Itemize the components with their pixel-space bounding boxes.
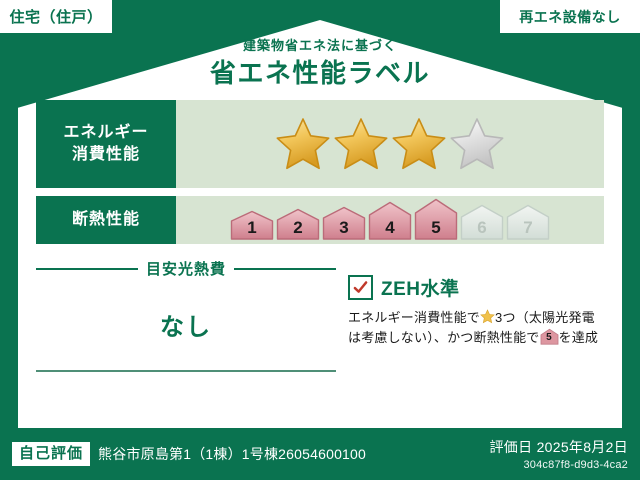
zeh-checkbox bbox=[348, 275, 373, 300]
star-icon-inline bbox=[480, 309, 495, 324]
utility-cost-block: 目安光熱費 なし bbox=[36, 258, 336, 372]
badge-renewable-energy: 再エネ設備なし bbox=[500, 0, 640, 33]
label-footer: 自己評価 熊谷市原島第1（1棟）1号棟26054600100 評価日 2025年… bbox=[0, 428, 640, 480]
evaluation-id: 304c87f8-d9d3-4ca2 bbox=[489, 459, 628, 471]
energy-performance-value bbox=[176, 100, 604, 188]
property-address: 熊谷市原島第1（1棟）1号棟26054600100 bbox=[98, 444, 366, 464]
insulation-level-number: 1 bbox=[230, 218, 274, 238]
energy-performance-label: 住宅（住戸） 再エネ設備なし 建築物省エネ法に基づく 省エネ性能ラベル エネルギ… bbox=[0, 0, 640, 480]
insulation-level-number: 6 bbox=[460, 218, 504, 238]
badge-building-type-label: 住宅（住戸） bbox=[9, 6, 102, 27]
insulation-performance-label-text: 断熱性能 bbox=[72, 209, 140, 231]
zeh-desc-part3: を達成 bbox=[559, 330, 599, 345]
zeh-desc-star-count: 3つ（太陽光発電 bbox=[495, 310, 595, 325]
footer-right: 評価日 2025年8月2日 304c87f8-d9d3-4ca2 bbox=[489, 437, 628, 471]
zeh-title: ZEH水準 bbox=[381, 274, 460, 301]
insulation-level-6: 6 bbox=[460, 204, 504, 240]
insulation-level-number: 3 bbox=[322, 218, 366, 238]
insulation-level-number: 7 bbox=[506, 218, 550, 238]
utility-cost-heading: 目安光熱費 bbox=[36, 258, 336, 279]
insulation-level-4: 4 bbox=[368, 201, 412, 240]
insulation-level-5: 5 bbox=[414, 198, 458, 240]
house-level-icon-number: 5 bbox=[540, 330, 559, 346]
evaluation-date: 評価日 2025年8月2日 bbox=[489, 437, 628, 457]
badge-renewable-energy-label: 再エネ設備なし bbox=[519, 7, 621, 27]
energy-performance-row: エネルギー 消費性能 bbox=[36, 100, 604, 188]
star-icon-empty bbox=[449, 116, 505, 172]
check-icon bbox=[353, 280, 368, 295]
zeh-title-line: ZEH水準 bbox=[348, 274, 604, 301]
insulation-level-number: 4 bbox=[368, 218, 412, 238]
insulation-level-7: 7 bbox=[506, 204, 550, 240]
insulation-level-2: 2 bbox=[276, 208, 320, 240]
insulation-performance-value: 1234567 bbox=[176, 196, 604, 244]
energy-performance-label-line1: エネルギー bbox=[63, 122, 148, 144]
house-level-icon-inline: 5 bbox=[540, 328, 559, 345]
zeh-block: ZEH水準 エネルギー消費性能で 3つ（太陽光発電 は考慮しない）、かつ断熱性能… bbox=[336, 258, 604, 372]
energy-performance-label: エネルギー 消費性能 bbox=[36, 100, 176, 188]
footer-left: 自己評価 熊谷市原島第1（1棟）1号棟26054600100 bbox=[12, 442, 366, 466]
insulation-level-3: 3 bbox=[322, 206, 366, 240]
star-icon-filled bbox=[333, 116, 389, 172]
star-icon-filled bbox=[275, 116, 331, 172]
energy-performance-label-line2: 消費性能 bbox=[72, 144, 140, 166]
utility-cost-heading-text: 目安光熱費 bbox=[146, 258, 226, 279]
insulation-level-number: 5 bbox=[414, 218, 458, 238]
utility-cost-rule-right bbox=[234, 268, 336, 270]
utility-cost-rule-left bbox=[36, 268, 138, 270]
insulation-performance-row: 断熱性能 1234567 bbox=[36, 196, 604, 244]
star-rating bbox=[275, 116, 505, 172]
self-evaluation-badge: 自己評価 bbox=[12, 442, 90, 466]
utility-cost-underline bbox=[36, 370, 336, 372]
insulation-performance-label: 断熱性能 bbox=[36, 196, 176, 244]
badge-building-type: 住宅（住戸） bbox=[0, 0, 112, 33]
zeh-desc-part2: は考慮しない）、かつ断熱性能で bbox=[348, 330, 540, 345]
star-icon-filled bbox=[391, 116, 447, 172]
utility-cost-value: なし bbox=[36, 307, 336, 342]
zeh-desc-part1: エネルギー消費性能で bbox=[348, 310, 480, 325]
insulation-level-scale: 1234567 bbox=[230, 198, 550, 242]
lower-section: 目安光熱費 なし ZEH水準 エネルギー消費性能で bbox=[36, 258, 604, 372]
zeh-description: エネルギー消費性能で 3つ（太陽光発電 は考慮しない）、かつ断熱性能で 5 を達… bbox=[348, 308, 604, 348]
insulation-level-1: 1 bbox=[230, 210, 274, 240]
insulation-level-number: 2 bbox=[276, 218, 320, 238]
label-content: エネルギー 消費性能 断熱性能 1234567 目安光熱費 bbox=[36, 100, 604, 372]
